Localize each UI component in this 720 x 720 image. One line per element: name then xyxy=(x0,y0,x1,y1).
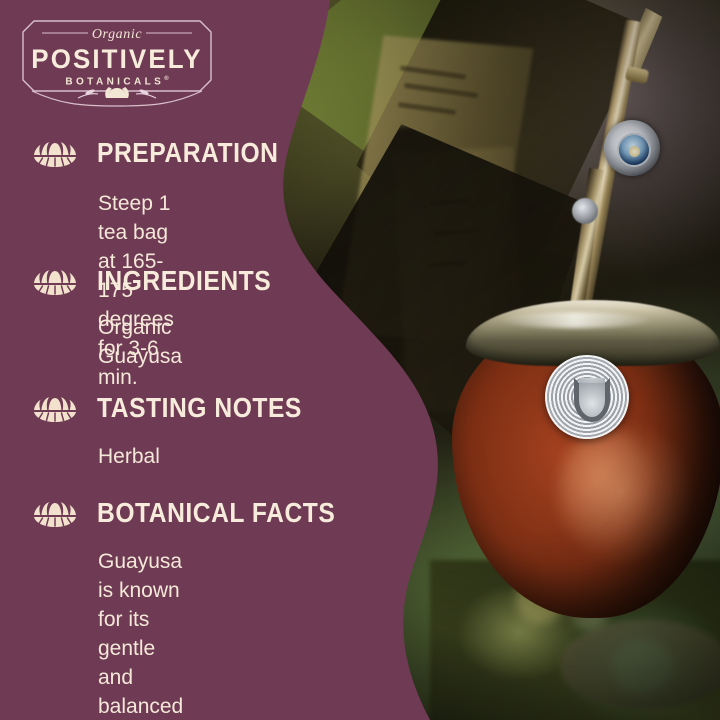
shell-fan-icon xyxy=(32,394,78,424)
shell-fan-icon xyxy=(32,499,78,529)
section-body-botanical-facts: Guayusa is known for its gentle and bala… xyxy=(98,547,183,720)
card-content: Organic POSITIVELY BOTANICALS® xyxy=(0,0,720,720)
logo-brand-name: POSITIVELY xyxy=(24,44,210,75)
logo-brand-subtitle: BOTANICALS® xyxy=(20,76,214,87)
product-info-card: Organic POSITIVELY BOTANICALS® xyxy=(0,0,720,720)
section-title-preparation: PREPARATION xyxy=(97,137,279,169)
shell-fan-icon xyxy=(32,139,78,169)
section-body-tasting-notes: Herbal xyxy=(98,442,160,471)
section-title-tasting-notes: TASTING NOTES xyxy=(97,392,302,424)
logo-organic-text: Organic xyxy=(20,27,214,43)
shell-fan-icon xyxy=(32,267,78,297)
logo-shell-ornament xyxy=(105,87,129,98)
brand-logo-badge[interactable]: Organic POSITIVELY BOTANICALS® xyxy=(20,18,214,110)
section-body-ingredients: Organic Guayusa xyxy=(98,313,182,371)
section-title-ingredients: INGREDIENTS xyxy=(97,265,271,297)
section-title-botanical-facts: BOTANICAL FACTS xyxy=(97,497,335,529)
